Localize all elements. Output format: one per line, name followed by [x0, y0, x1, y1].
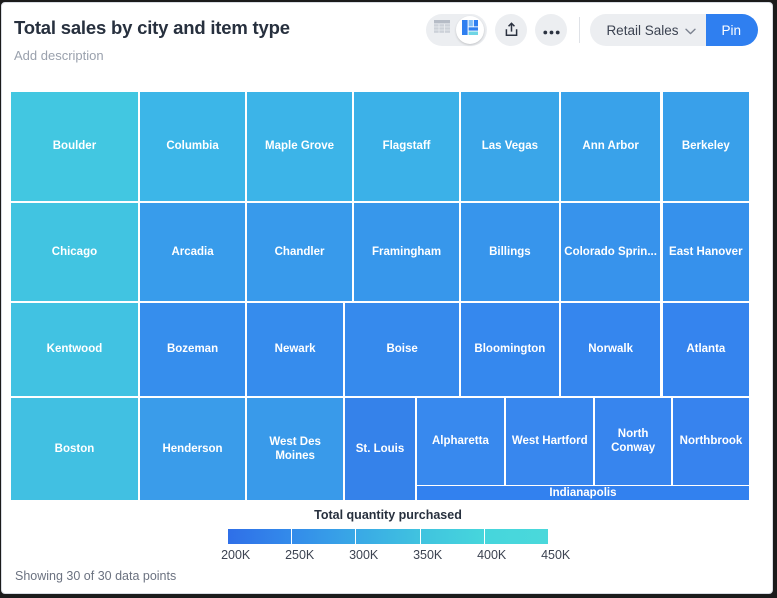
toolbar: Retail Sales Pin [426, 14, 758, 46]
treemap-tile[interactable]: Maple Grove [247, 92, 352, 201]
legend-segment [356, 529, 420, 544]
card-header: Total sales by city and item type Add de… [2, 3, 772, 75]
treemap-tile-label: Norwalk [588, 342, 633, 356]
treemap-tile-label: Bozeman [167, 342, 218, 356]
treemap-tile-label: East Hanover [669, 245, 743, 259]
legend-title: Total quantity purchased [2, 508, 773, 522]
treemap-tile-label: Arcadia [171, 245, 213, 259]
treemap-tile[interactable]: Flagstaff [354, 92, 459, 201]
treemap-tile[interactable]: Chicago [11, 203, 138, 301]
treemap-tile-label: Northbrook [680, 434, 743, 448]
treemap-tile-label: Henderson [162, 442, 222, 456]
treemap-tile[interactable]: West Hartford [506, 398, 593, 485]
treemap-tile-label: Billings [489, 245, 531, 259]
treemap-tile[interactable]: Arcadia [140, 203, 245, 301]
treemap-tile[interactable]: Framingham [354, 203, 459, 301]
treemap-tile-label: Boulder [53, 139, 96, 153]
treemap-tile-label: Boston [55, 442, 95, 456]
treemap-tile[interactable]: Billings [461, 203, 558, 301]
treemap-chart: BoulderColumbiaMaple GroveFlagstaffLas V… [11, 92, 749, 494]
treemap-tile-label: Colorado Sprin... [564, 245, 657, 259]
dataset-pin-group: Retail Sales Pin [590, 14, 758, 46]
treemap-tile[interactable]: Columbia [140, 92, 245, 201]
treemap-tile-label: Alpharetta [432, 434, 489, 448]
footer: Showing 30 of 30 data points [2, 559, 773, 593]
treemap-tile-label: Newark [275, 342, 316, 356]
treemap-tile-label: West Hartford [512, 434, 588, 448]
treemap-tile[interactable]: Boulder [11, 92, 138, 201]
treemap-tile[interactable]: Boise [345, 303, 459, 395]
treemap-tile-label: West Des Moines [250, 435, 340, 463]
treemap-tile-label: Chicago [52, 245, 97, 259]
dataset-label: Retail Sales [606, 23, 678, 38]
legend-segment [292, 529, 356, 544]
treemap-tile-label: Ann Arbor [582, 139, 638, 153]
treemap-tile-label: Columbia [166, 139, 218, 153]
treemap-tile[interactable]: Bloomington [461, 303, 558, 395]
view-mode-toggle[interactable] [426, 14, 487, 46]
legend: Total quantity purchased 200K250K300K350… [2, 508, 773, 566]
share-button[interactable] [495, 14, 527, 46]
more-options-icon [543, 23, 560, 38]
chart-view-button[interactable] [456, 16, 484, 44]
treemap-tile[interactable]: Kentwood [11, 303, 138, 395]
treemap-tile[interactable]: Indianapolis [417, 486, 749, 500]
treemap-tile[interactable]: St. Louis [345, 398, 414, 501]
treemap-tile[interactable]: North Conway [595, 398, 670, 485]
treemap-tile-label: St. Louis [356, 442, 405, 456]
treemap-tile-label: Boise [386, 342, 417, 356]
treemap-tile[interactable]: Northbrook [673, 398, 749, 485]
treemap-tile-label: Indianapolis [549, 486, 616, 500]
treemap-tile-label: Flagstaff [383, 139, 431, 153]
treemap-tile[interactable]: Atlanta [663, 303, 749, 395]
treemap-tile[interactable]: Bozeman [140, 303, 245, 395]
chevron-down-icon [685, 23, 696, 38]
treemap-tile[interactable]: West Des Moines [247, 398, 343, 501]
description-placeholder[interactable]: Add description [14, 48, 758, 64]
treemap-tile[interactable]: Las Vegas [461, 92, 558, 201]
treemap-tile[interactable]: Alpharetta [417, 398, 504, 485]
treemap-tile[interactable]: Ann Arbor [561, 92, 661, 201]
legend-segment [421, 529, 485, 544]
more-options-button[interactable] [535, 14, 567, 46]
table-view-button[interactable] [428, 16, 456, 44]
legend-gradient-bar [228, 529, 548, 544]
treemap-tile[interactable]: East Hanover [663, 203, 749, 301]
treemap-tile-label: Las Vegas [482, 139, 538, 153]
treemap-tile[interactable]: Berkeley [663, 92, 749, 201]
treemap-tile-label: Kentwood [47, 342, 103, 356]
treemap-tile-label: Chandler [275, 245, 325, 259]
legend-segment [485, 529, 548, 544]
table-grid-icon [434, 20, 450, 40]
treemap-tile[interactable]: Colorado Sprin... [561, 203, 661, 301]
pin-button[interactable]: Pin [706, 14, 758, 46]
treemap-tile-label: Framingham [372, 245, 441, 259]
dataset-dropdown[interactable]: Retail Sales [590, 14, 706, 46]
treemap-tile[interactable]: Boston [11, 398, 138, 501]
treemap-chart-icon [462, 20, 478, 40]
legend-segment [228, 529, 292, 544]
treemap-tile[interactable]: Chandler [247, 203, 352, 301]
treemap-tile-label: Bloomington [474, 342, 545, 356]
treemap-tile-label: North Conway [598, 427, 667, 455]
data-points-status: Showing 30 of 30 data points [15, 569, 176, 583]
treemap-tile-label: Atlanta [686, 342, 725, 356]
visualization-card: Total sales by city and item type Add de… [1, 2, 773, 594]
share-upload-icon [504, 21, 519, 40]
treemap-tile-label: Berkeley [682, 139, 730, 153]
toolbar-divider [579, 17, 580, 43]
treemap-tile[interactable]: Norwalk [561, 303, 661, 395]
treemap-tile-label: Maple Grove [265, 139, 334, 153]
treemap-tile[interactable]: Henderson [140, 398, 245, 501]
treemap-tile[interactable]: Newark [247, 303, 343, 395]
